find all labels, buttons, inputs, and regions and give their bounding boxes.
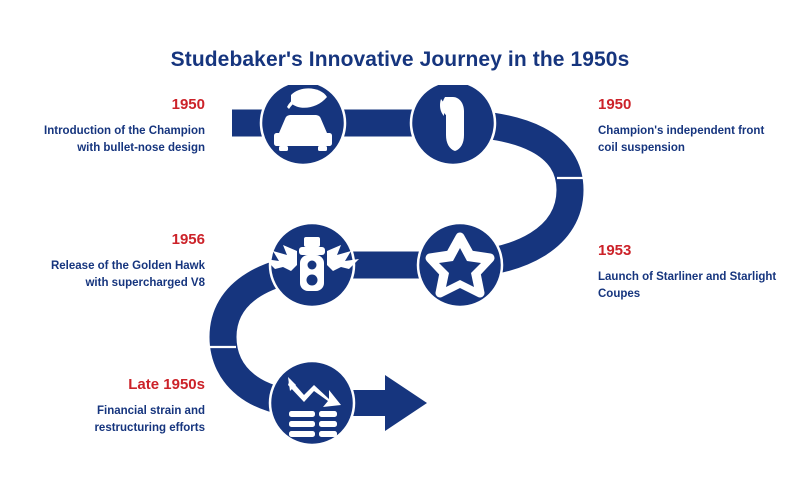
flow-node-1[interactable] [261, 85, 345, 165]
milestone-year: 1953 [598, 243, 778, 260]
milestone-description: Release of the Golden Hawk with supercha… [25, 258, 205, 294]
milestone-year: Late 1950s [25, 377, 205, 394]
flow-node-5[interactable] [270, 361, 354, 445]
milestone-late-1950s: Late 1950s Financial strain and restruct… [25, 377, 205, 438]
milestone-1956-golden-hawk: 1956 Release of the Golden Hawk with sup… [25, 232, 205, 293]
milestone-description: Champion's independent front coil suspen… [598, 123, 778, 159]
milestone-description: Introduction of the Champion with bullet… [25, 123, 205, 159]
milestone-year: 1950 [25, 97, 205, 114]
milestone-year: 1950 [598, 97, 778, 114]
flow-node-3[interactable] [418, 223, 502, 307]
milestone-1953-coupes: 1953 Launch of Starliner and Starlight C… [598, 243, 778, 304]
milestone-description: Financial strain and restructuring effor… [25, 403, 205, 439]
flow-diagram [195, 85, 605, 455]
milestone-year: 1956 [25, 232, 205, 249]
milestone-1950-champion: 1950 Introduction of the Champion with b… [25, 97, 205, 158]
flow-node-2[interactable] [411, 85, 495, 165]
page-title: Studebaker's Innovative Journey in the 1… [0, 48, 800, 72]
milestone-description: Launch of Starliner and Starlight Coupes [598, 269, 778, 305]
flow-node-4[interactable] [265, 223, 359, 307]
infographic-root: Studebaker's Innovative Journey in the 1… [0, 0, 800, 500]
milestone-1950-suspension: 1950 Champion's independent front coil s… [598, 97, 778, 158]
